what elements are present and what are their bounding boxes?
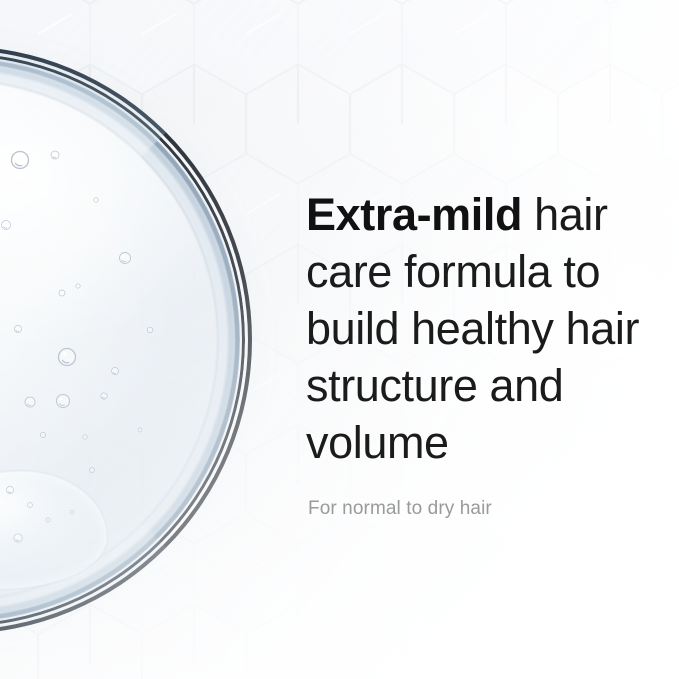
headline-emphasis: Extra-mild	[306, 189, 522, 240]
promo-banner: Extra-mild hair care formula to build he…	[0, 0, 679, 679]
subline: For normal to dry hair	[308, 497, 652, 521]
copy-block: Extra-mild hair care formula to build he…	[306, 186, 652, 521]
headline: Extra-mild hair care formula to build he…	[306, 186, 652, 471]
